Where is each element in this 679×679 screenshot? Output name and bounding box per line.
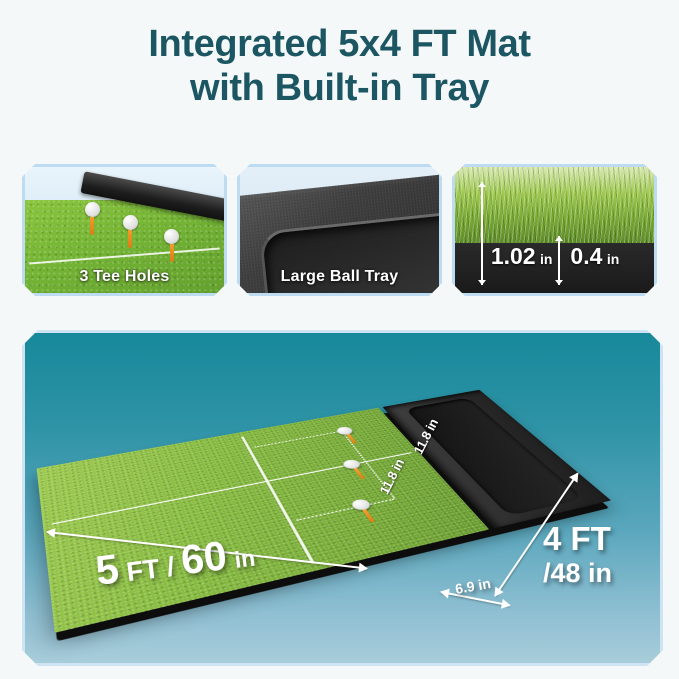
product-hero-panel: 11.8 in 11.8 in	[22, 330, 663, 666]
thickness-base-value: 0.4	[570, 243, 602, 269]
golf-ball-icon	[123, 215, 138, 230]
feature-card-label: 3 Tee Holes	[25, 268, 224, 286]
measure-arrow-base	[558, 236, 560, 285]
depth-dimension-label: 4 FT /48 in	[543, 520, 612, 589]
tee-peg-icon	[128, 230, 132, 248]
tee-icon	[349, 498, 381, 524]
tee-peg-icon	[170, 244, 174, 262]
golf-ball-icon	[349, 498, 372, 511]
tee-icon	[335, 426, 362, 445]
feature-card-thickness[interactable]: 1.02 in 0.4 in	[452, 164, 657, 296]
thickness-total-value: 1.02	[491, 243, 536, 269]
tee-peg-icon	[90, 217, 94, 235]
length-alt-value: 60	[178, 532, 229, 583]
tee-icon	[85, 202, 100, 235]
tee-guide-dotted-bottom	[296, 499, 394, 521]
length-alt-unit: in	[233, 545, 256, 573]
tee-peg-icon	[346, 434, 357, 444]
length-value: 5	[93, 545, 121, 593]
golf-ball-icon	[164, 229, 179, 244]
feature-card-label: Large Ball Tray	[240, 268, 439, 286]
depth-value-ft: 4 FT	[543, 520, 612, 558]
golf-mat-3d	[37, 390, 612, 633]
feature-card-row: 3 Tee Holes Large Ball Tray 1.02 in 0.4 …	[22, 164, 657, 296]
thickness-illustration: 1.02 in 0.4 in	[455, 167, 654, 293]
depth-value-in: /48 in	[543, 558, 612, 589]
feature-card-tee-holes[interactable]: 3 Tee Holes	[22, 164, 227, 296]
page-title: Integrated 5x4 FT Mat with Built-in Tray	[0, 22, 679, 110]
thickness-total-measure: 1.02 in	[491, 243, 553, 270]
tee-icon	[123, 215, 138, 248]
base-layer	[455, 243, 654, 293]
tee-peg-icon	[363, 509, 376, 522]
tee-icon	[164, 229, 179, 262]
measure-arrow-total	[481, 182, 483, 285]
length-unit: FT	[125, 553, 161, 587]
title-line-1: Integrated 5x4 FT Mat	[0, 22, 679, 66]
grass-fiber-layer	[455, 167, 654, 243]
title-line-2: with Built-in Tray	[0, 66, 679, 110]
tee-guide-dotted-top	[254, 431, 341, 448]
thickness-base-unit: in	[607, 251, 619, 267]
tee-peg-icon	[353, 468, 365, 479]
golf-ball-icon	[85, 202, 100, 217]
thickness-total-unit: in	[540, 251, 552, 267]
feature-card-ball-tray[interactable]: Large Ball Tray	[237, 164, 442, 296]
thickness-base-measure: 0.4 in	[570, 243, 619, 270]
